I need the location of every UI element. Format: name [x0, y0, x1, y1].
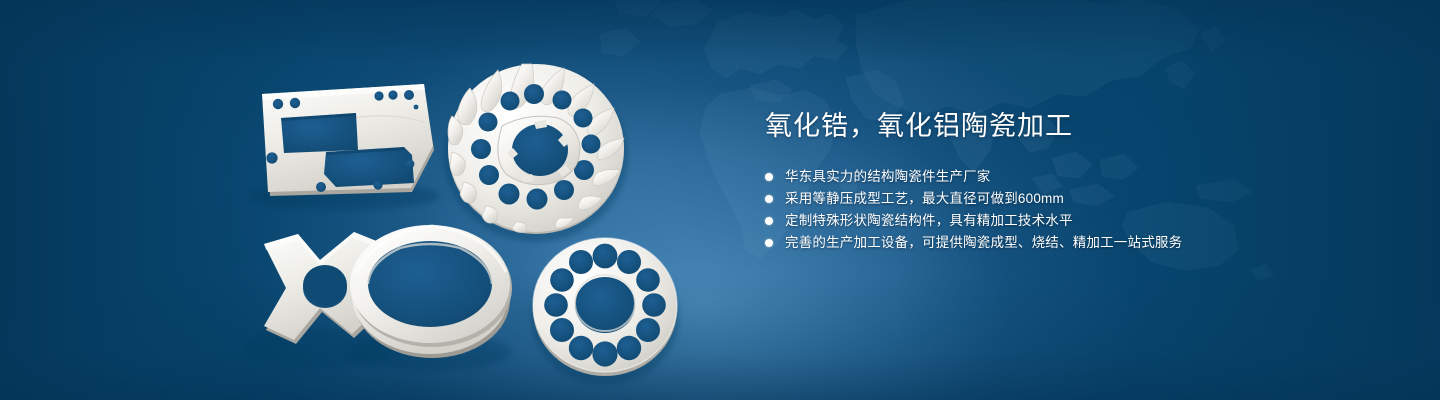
feature-list: 华东具实力的结构陶瓷件生产厂家 采用等静压成型工艺，最大直径可做到600mm 定…	[765, 166, 1365, 254]
ceramic-products-group	[0, 0, 740, 400]
ceramic-plate-with-cutouts	[250, 84, 440, 210]
list-item-label: 华东具实力的结构陶瓷件生产厂家	[785, 166, 991, 188]
list-item-label: 完善的生产加工设备，可提供陶瓷成型、烧结、精加工一站式服务	[785, 232, 1182, 254]
list-item: 采用等静压成型工艺，最大直径可做到600mm	[765, 188, 1365, 210]
list-item: 完善的生产加工设备，可提供陶瓷成型、烧结、精加工一站式服务	[765, 232, 1365, 254]
ceramic-perforated-disc	[531, 238, 679, 385]
list-item-label: 定制特殊形状陶瓷结构件，具有精加工技术水平	[785, 210, 1073, 232]
list-item: 定制特殊形状陶瓷结构件，具有精加工技术水平	[765, 210, 1365, 232]
ceramic-impeller-disc	[444, 64, 628, 242]
bullet-dot-icon	[765, 217, 773, 225]
promo-banner: 氧化锆，氧化铝陶瓷加工 华东具实力的结构陶瓷件生产厂家 采用等静压成型工艺，最大…	[0, 0, 1440, 400]
ceramic-rings	[348, 225, 512, 370]
bullet-dot-icon	[765, 195, 773, 203]
banner-text-block: 氧化锆，氧化铝陶瓷加工 华东具实力的结构陶瓷件生产厂家 采用等静压成型工艺，最大…	[765, 108, 1365, 254]
list-item: 华东具实力的结构陶瓷件生产厂家	[765, 166, 1365, 188]
list-item-label: 采用等静压成型工艺，最大直径可做到600mm	[785, 188, 1064, 210]
page-title: 氧化锆，氧化铝陶瓷加工	[765, 108, 1365, 144]
bullet-dot-icon	[765, 173, 773, 181]
bullet-dot-icon	[765, 239, 773, 247]
